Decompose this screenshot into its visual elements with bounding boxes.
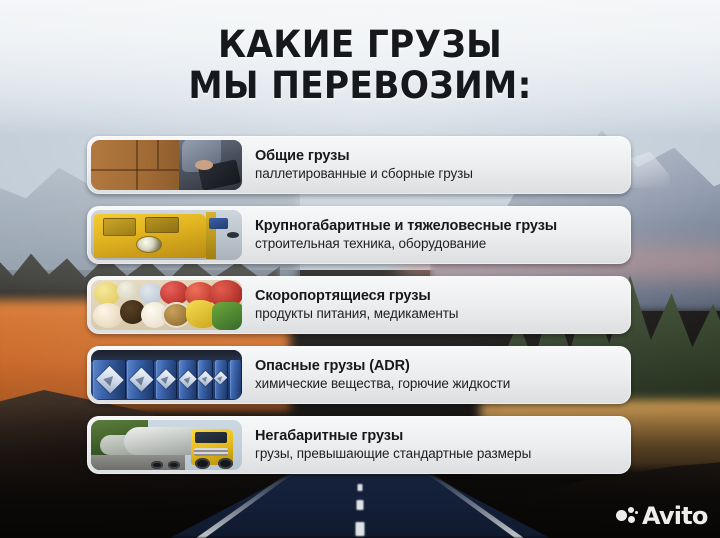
page-title: КАКИЕ ГРУЗЫ МЫ ПЕРЕВОЗИМ: bbox=[0, 24, 720, 106]
list-item-subtitle: продукты питания, медикаменты bbox=[255, 305, 623, 322]
list-item-subtitle: химические вещества, горючие жидкости bbox=[255, 375, 623, 392]
blue-part bbox=[209, 218, 229, 229]
list-item-text: Опасные грузы (ADR) химические вещества,… bbox=[242, 358, 631, 392]
list-item-text: Общие грузы паллетированные и сборные гр… bbox=[242, 148, 631, 182]
cab-grille bbox=[194, 448, 229, 456]
truck-wheel bbox=[218, 458, 233, 469]
machine-knob bbox=[227, 232, 239, 238]
box-seam bbox=[91, 169, 179, 171]
boxes-and-worker-photo bbox=[91, 140, 242, 190]
list-item[interactable]: Опасные грузы (ADR) химические вещества,… bbox=[87, 346, 631, 404]
oversized-tank-truck-photo bbox=[91, 420, 242, 470]
poster-canvas: КАКИЕ ГРУЗЫ МЫ ПЕРЕВОЗИМ: Общие грузы па… bbox=[0, 0, 720, 538]
avito-wordmark: Avito bbox=[642, 504, 708, 528]
yellow-construction-machine-photo bbox=[91, 210, 242, 260]
page-title-line-1: КАКИЕ ГРУЗЫ bbox=[25, 24, 695, 65]
list-item[interactable]: Скоропортящиеся грузы продукты питания, … bbox=[87, 276, 631, 334]
page-title-line-2: МЫ ПЕРЕВОЗИМ: bbox=[25, 65, 695, 106]
box-seam bbox=[157, 140, 159, 169]
machine-headlamp bbox=[136, 236, 162, 253]
box-seam bbox=[136, 140, 138, 190]
list-item[interactable]: Негабаритные грузы грузы, превышающие ст… bbox=[87, 416, 631, 474]
list-item-text: Крупногабаритные и тяжеловесные грузы ст… bbox=[242, 218, 631, 252]
produce-item bbox=[94, 282, 120, 305]
list-item-text: Негабаритные грузы грузы, превышающие ст… bbox=[242, 428, 631, 462]
avito-dots-logo-icon bbox=[616, 507, 638, 526]
avito-watermark: Avito bbox=[616, 504, 708, 528]
fruits-and-vegetables-photo bbox=[91, 280, 242, 330]
list-item-title: Опасные грузы (ADR) bbox=[255, 358, 623, 375]
list-item-text: Скоропортящиеся грузы продукты питания, … bbox=[242, 288, 631, 322]
cab-windshield bbox=[195, 432, 227, 443]
list-item-subtitle: строительная техника, оборудование bbox=[255, 235, 623, 252]
produce-item bbox=[117, 281, 140, 301]
list-item-title: Крупногабаритные и тяжеловесные грузы bbox=[255, 218, 623, 235]
list-item-subtitle: паллетированные и сборные грузы bbox=[255, 165, 623, 182]
machine-window bbox=[145, 217, 178, 233]
blue-adr-barrels-photo bbox=[91, 350, 242, 400]
list-item-subtitle: грузы, превышающие стандартные размеры bbox=[255, 445, 623, 462]
produce-item bbox=[93, 303, 123, 328]
list-item[interactable]: Крупногабаритные и тяжеловесные грузы ст… bbox=[87, 206, 631, 264]
list-item[interactable]: Общие грузы паллетированные и сборные гр… bbox=[87, 136, 631, 194]
trailer-wheel bbox=[168, 461, 180, 470]
produce-item bbox=[212, 302, 242, 330]
cargo-type-list: Общие грузы паллетированные и сборные гр… bbox=[87, 136, 631, 474]
list-item-title: Негабаритные грузы bbox=[255, 428, 623, 445]
list-item-title: Общие грузы bbox=[255, 148, 623, 165]
chemical-barrel bbox=[230, 360, 242, 399]
machine-window bbox=[103, 218, 136, 236]
list-item-title: Скоропортящиеся грузы bbox=[255, 288, 623, 305]
